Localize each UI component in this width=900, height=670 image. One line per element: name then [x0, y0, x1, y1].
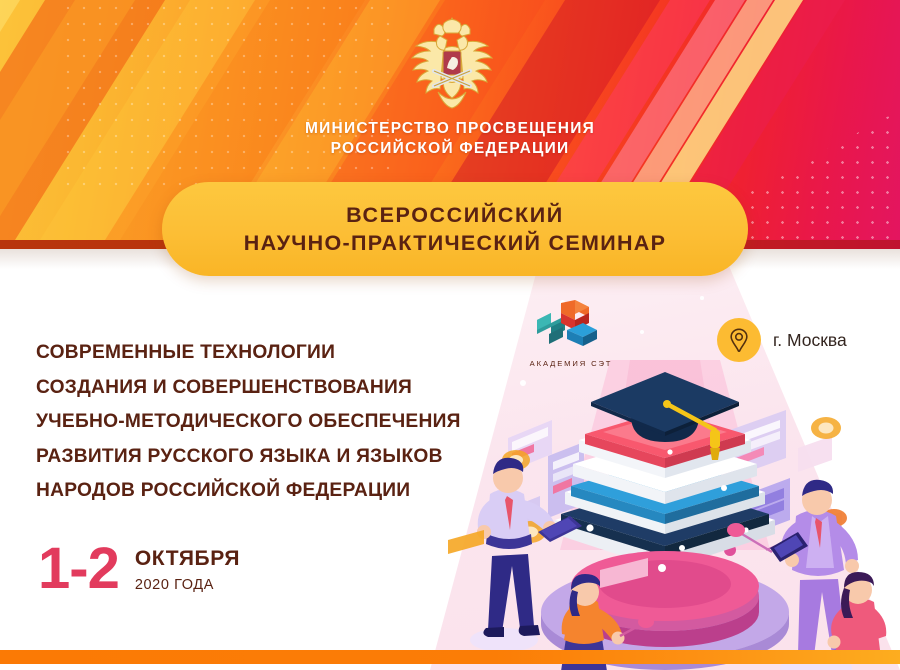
banner-line-2: НАУЧНО-ПРАКТИЧЕСКИЙ СЕМИНАР [244, 229, 667, 258]
location-label: г. Москва [773, 330, 847, 350]
organizer-logo: АКАДЕМИЯ СЭТ [521, 296, 621, 368]
event-date: 1-2 ОКТЯБРЯ 2020 ГОДА [38, 540, 240, 598]
date-month: ОКТЯБРЯ [135, 547, 240, 571]
date-days: 1-2 [38, 540, 119, 598]
russian-federation-coat-of-arms-icon [404, 14, 500, 114]
bottom-accent-bar [0, 650, 900, 664]
header-dot-texture [60, 0, 390, 190]
title-line-2: СОЗДАНИЯ И СОВЕРШЕНСТВОВАНИЯ [36, 371, 506, 406]
location-badge: г. Москва [717, 318, 847, 362]
seminar-banner: ВСЕРОССИЙСКИЙ НАУЧНО-ПРАКТИЧЕСКИЙ СЕМИНА… [162, 182, 748, 276]
ministry-name: МИНИСТЕРСТВО ПРОСВЕЩЕНИЯ РОССИЙСКОЙ ФЕДЕ… [0, 119, 900, 159]
date-year: 2020 ГОДА [135, 574, 240, 596]
ministry-line-1: МИНИСТЕРСТВО ПРОСВЕЩЕНИЯ [0, 119, 900, 139]
title-line-3: УЧЕБНО-МЕТОДИЧЕСКОГО ОБЕСПЕЧЕНИЯ [36, 405, 506, 440]
poster-root: МИНИСТЕРСТВО ПРОСВЕЩЕНИЯ РОССИЙСКОЙ ФЕДЕ… [0, 0, 900, 670]
page-title: СОВРЕМЕННЫЕ ТЕХНОЛОГИИ СОЗДАНИЯ И СОВЕРШ… [36, 336, 506, 509]
banner-line-1: ВСЕРОССИЙСКИЙ [346, 201, 564, 229]
title-line-4: РАЗВИТИЯ РУССКОГО ЯЗЫКА И ЯЗЫКОВ [36, 440, 506, 475]
title-line-5: НАРОДОВ РОССИЙСКОЙ ФЕДЕРАЦИИ [36, 474, 506, 509]
ministry-line-2: РОССИЙСКОЙ ФЕДЕРАЦИИ [0, 139, 900, 159]
map-pin-icon [717, 318, 761, 362]
akademiya-set-logo-icon [521, 296, 621, 352]
title-line-1: СОВРЕМЕННЫЕ ТЕХНОЛОГИИ [36, 336, 506, 371]
organizer-name: АКАДЕМИЯ СЭТ [521, 359, 621, 368]
